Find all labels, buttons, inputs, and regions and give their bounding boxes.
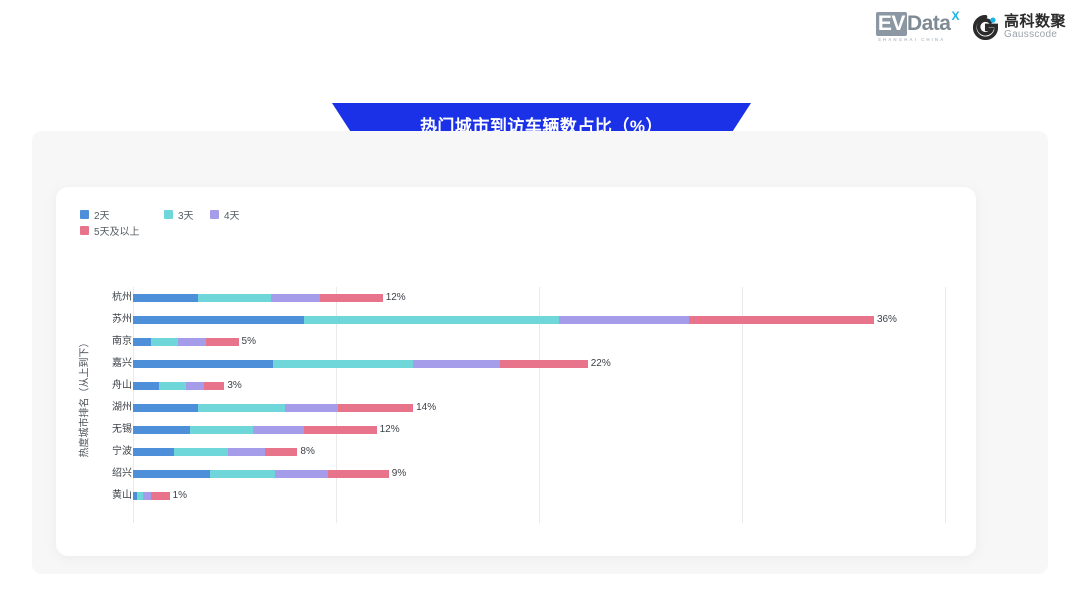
chart-row[interactable]: 湖州14% <box>56 397 976 419</box>
bar-segment-2天[interactable] <box>133 448 174 456</box>
chart-rows: 杭州12%苏州36%南京5%嘉兴22%舟山3%湖州14%无锡12%宁波8%绍兴9… <box>56 287 976 507</box>
stacked-bar[interactable] <box>133 360 588 368</box>
bar-segment-5天及以上[interactable] <box>500 360 587 368</box>
bar-value-label: 3% <box>227 380 241 392</box>
bar-segment-3天[interactable] <box>210 470 275 478</box>
stacked-bar[interactable] <box>133 338 239 346</box>
evdata-data-text: Data <box>907 12 951 36</box>
chart-row[interactable]: 宁波8% <box>56 441 976 463</box>
bar-segment-3天[interactable] <box>190 426 253 434</box>
category-label-杭州: 杭州 <box>94 287 132 309</box>
category-label-嘉兴: 嘉兴 <box>94 353 132 375</box>
bar-segment-4天[interactable] <box>271 294 320 302</box>
stacked-bar[interactable] <box>133 448 297 456</box>
chart-row[interactable]: 无锡12% <box>56 419 976 441</box>
bar-segment-3天[interactable] <box>273 360 413 368</box>
evdata-ev-text: EV <box>876 12 907 36</box>
chart-row[interactable]: 苏州36% <box>56 309 976 331</box>
gausscode-cn-name: 高科数聚 <box>1004 14 1066 30</box>
bar-value-label: 12% <box>380 424 400 436</box>
bar-segment-4天[interactable] <box>559 316 689 324</box>
bar-segment-3天[interactable] <box>159 382 185 390</box>
stacked-bar[interactable] <box>133 426 377 434</box>
bar-segment-5天及以上[interactable] <box>328 470 389 478</box>
bar-value-label: 36% <box>877 314 897 326</box>
logo-row: EVDataX SHANGHAI CHINA 高科数聚 Gausscode <box>876 12 1066 42</box>
bar-segment-3天[interactable] <box>174 448 229 456</box>
bar-segment-4天[interactable] <box>285 404 338 412</box>
bar-value-label: 1% <box>173 490 187 502</box>
category-label-绍兴: 绍兴 <box>94 463 132 485</box>
category-label-苏州: 苏州 <box>94 309 132 331</box>
bar-value-label: 9% <box>392 468 406 480</box>
page-header: EVDataX SHANGHAI CHINA 高科数聚 Gausscode <box>0 0 1080 56</box>
bar-value-label: 12% <box>386 292 406 304</box>
bar-segment-2天[interactable] <box>133 382 159 390</box>
chart-row[interactable]: 黄山1% <box>56 485 976 507</box>
bar-segment-2天[interactable] <box>133 316 304 324</box>
bar-segment-2天[interactable] <box>133 426 190 434</box>
chart-card: 2天3天4天5天及以上 热度城市排名（从上到下） 杭州12%苏州36%南京5%嘉… <box>56 187 976 556</box>
category-label-无锡: 无锡 <box>94 419 132 441</box>
chart-row[interactable]: 杭州12% <box>56 287 976 309</box>
category-label-舟山: 舟山 <box>94 375 132 397</box>
category-label-黄山: 黄山 <box>94 485 132 507</box>
category-label-南京: 南京 <box>94 331 132 353</box>
evdata-x-icon: X <box>951 10 959 22</box>
bar-segment-4天[interactable] <box>275 470 328 478</box>
chart-row[interactable]: 舟山3% <box>56 375 976 397</box>
bar-segment-5天及以上[interactable] <box>204 382 224 390</box>
stacked-bar[interactable] <box>133 294 383 302</box>
bar-segment-4天[interactable] <box>228 448 265 456</box>
bar-segment-4天[interactable] <box>253 426 304 434</box>
bar-value-label: 5% <box>242 336 256 348</box>
evdata-subtitle: SHANGHAI CHINA <box>878 37 946 42</box>
bar-segment-4天[interactable] <box>413 360 500 368</box>
bar-segment-2天[interactable] <box>133 360 273 368</box>
bar-segment-5天及以上[interactable] <box>304 426 377 434</box>
chart-row[interactable]: 绍兴9% <box>56 463 976 485</box>
bar-segment-3天[interactable] <box>198 294 271 302</box>
gausscode-g-icon <box>973 15 998 40</box>
bar-segment-4天[interactable] <box>186 382 204 390</box>
category-label-宁波: 宁波 <box>94 441 132 463</box>
bar-segment-3天[interactable] <box>198 404 285 412</box>
bar-segment-2天[interactable] <box>133 294 198 302</box>
bar-segment-2天[interactable] <box>133 338 151 346</box>
bar-segment-2天[interactable] <box>133 404 198 412</box>
bar-segment-5天及以上[interactable] <box>151 492 169 500</box>
gausscode-en-name: Gausscode <box>1004 30 1066 41</box>
bar-segment-4天[interactable] <box>178 338 206 346</box>
category-label-湖州: 湖州 <box>94 397 132 419</box>
bar-value-label: 14% <box>416 402 436 414</box>
stacked-bar[interactable] <box>133 382 224 390</box>
bar-segment-3天[interactable] <box>304 316 560 324</box>
stacked-bar[interactable] <box>133 404 413 412</box>
bar-segment-3天[interactable] <box>151 338 177 346</box>
gausscode-text: 高科数聚 Gausscode <box>1004 14 1066 40</box>
bar-segment-5天及以上[interactable] <box>338 404 413 412</box>
bar-value-label: 8% <box>300 446 314 458</box>
stacked-bar[interactable] <box>133 470 389 478</box>
evdata-wordmark: EVDataX <box>876 12 959 36</box>
bar-value-label: 22% <box>591 358 611 370</box>
gausscode-logo: 高科数聚 Gausscode <box>973 14 1066 40</box>
bar-segment-5天及以上[interactable] <box>265 448 297 456</box>
chart-row[interactable]: 嘉兴22% <box>56 353 976 375</box>
stacked-bar[interactable] <box>133 492 170 500</box>
stacked-bar[interactable] <box>133 316 874 324</box>
evdata-logo: EVDataX SHANGHAI CHINA <box>876 12 959 42</box>
chart-plot-area: 热度城市排名（从上到下） 杭州12%苏州36%南京5%嘉兴22%舟山3%湖州14… <box>56 187 976 556</box>
bar-segment-5天及以上[interactable] <box>689 316 874 324</box>
bar-segment-2天[interactable] <box>133 470 210 478</box>
bar-segment-4天[interactable] <box>143 492 151 500</box>
bar-segment-5天及以上[interactable] <box>320 294 383 302</box>
chart-row[interactable]: 南京5% <box>56 331 976 353</box>
bar-segment-5天及以上[interactable] <box>206 338 238 346</box>
